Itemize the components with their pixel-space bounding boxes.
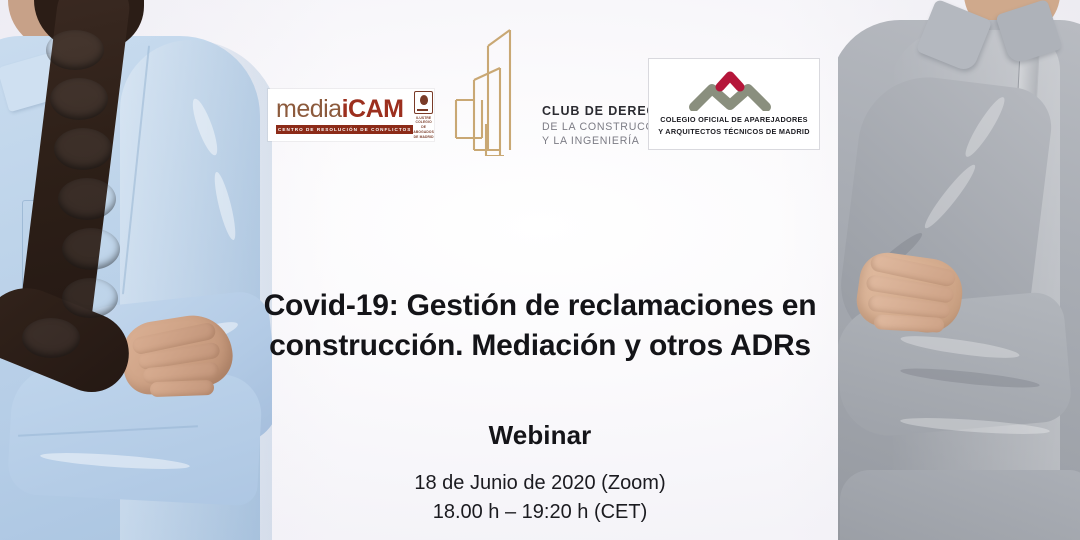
event-type-label: Webinar (0, 420, 1080, 451)
mediaicam-word-media: media (276, 95, 342, 123)
content-block: Covid-19: Gestión de reclamaciones en co… (0, 286, 1080, 527)
title-line-2: construcción. Mediación y otros ADRs (240, 326, 840, 366)
mediaicam-word-icam: iCAM (342, 95, 404, 123)
mediaicam-wordmark: mediaiCAM (276, 97, 413, 122)
logo-club-de-derecho: CLUB DE DERECHO DE LA CONSTRUCCIÓN Y LA … (452, 28, 642, 156)
club-buildings-icon (452, 28, 538, 156)
icam-seal: ILUSTRE COLEGIO DE ABOGADOS DE MADRID (413, 91, 438, 140)
coaatm-chevron-icon (686, 71, 782, 111)
left-person-braid-segment (62, 228, 120, 270)
logo-mediaicam: mediaiCAM CENTRO DE RESOLUCIÓN DE CONFLI… (268, 89, 434, 141)
icam-seal-text: ILUSTRE COLEGIO DE ABOGADOS DE MADRID (413, 116, 434, 140)
mediaicam-tagline: CENTRO DE RESOLUCIÓN DE CONFLICTOS (276, 125, 413, 134)
icam-seal-line-3: DE MADRID (413, 135, 434, 140)
icam-seal-line-2: COLEGIO DE ABOGADOS (413, 120, 434, 134)
club-line-2: DE LA CONSTRUCCIÓN (542, 120, 642, 134)
coaatm-line-1: COLEGIO OFICIAL DE APAREJADORES (660, 114, 808, 125)
title-line-1: Covid-19: Gestión de reclamaciones en (240, 286, 840, 326)
webinar-banner: mediaiCAM CENTRO DE RESOLUCIÓN DE CONFLI… (0, 0, 1080, 540)
mediaicam-wordmark-block: mediaiCAM CENTRO DE RESOLUCIÓN DE CONFLI… (268, 97, 413, 134)
logo-coaatm: COLEGIO OFICIAL DE APAREJADORES Y ARQUIT… (648, 58, 820, 150)
club-line-1: CLUB DE DERECHO (542, 104, 642, 120)
left-person-braid-segment (58, 178, 116, 220)
page-title: Covid-19: Gestión de reclamaciones en co… (240, 286, 840, 365)
event-time: 18.00 h – 19:20 h (CET) (0, 498, 1080, 527)
icam-crest-icon (414, 91, 433, 114)
coaatm-line-2: Y ARQUITECTOS TÉCNICOS DE MADRID (658, 126, 810, 137)
club-line-3: Y LA INGENIERÍA (542, 134, 642, 148)
event-date: 18 de Junio de 2020 (Zoom) (0, 469, 1080, 498)
logo-strip: mediaiCAM CENTRO DE RESOLUCIÓN DE CONFLI… (0, 0, 1080, 175)
club-de-derecho-text: CLUB DE DERECHO DE LA CONSTRUCCIÓN Y LA … (542, 104, 642, 148)
